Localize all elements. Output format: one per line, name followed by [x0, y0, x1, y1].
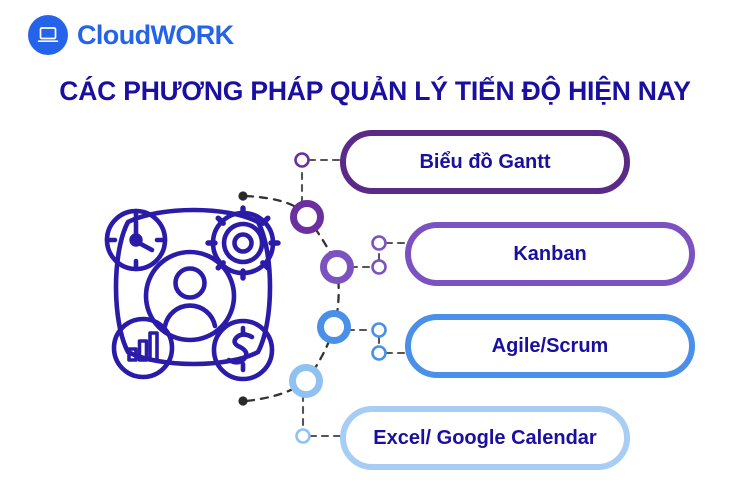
- connector-node-dots: [296, 154, 386, 443]
- node-dot-excel: [297, 430, 310, 443]
- arc-end-dot-bottom: [238, 396, 247, 405]
- method-pill-kanban[interactable]: Kanban: [405, 222, 695, 286]
- node-dot-agile-b: [373, 347, 386, 360]
- node-ring-agile[interactable]: [321, 314, 348, 341]
- infographic-canvas: CloudWORK CÁC PHƯƠNG PHÁP QUẢN LÝ TIẾN Đ…: [0, 0, 750, 500]
- clock-icon: [107, 211, 165, 269]
- node-dot-gantt: [296, 154, 309, 167]
- bar-chart-icon: [114, 319, 172, 377]
- method-pill-excel-google-calendar[interactable]: Excel/ Google Calendar: [340, 406, 630, 470]
- node-ring-gantt[interactable]: [294, 204, 321, 231]
- dollar-icon: [214, 321, 272, 379]
- node-ring-kanban[interactable]: [324, 254, 351, 281]
- connector-node-rings: [293, 204, 351, 395]
- method-pill-agile-scrum[interactable]: Agile/Scrum: [405, 314, 695, 378]
- person-icon: [146, 252, 234, 340]
- method-label: Kanban: [513, 243, 586, 266]
- arc-end-dot-top: [238, 191, 247, 200]
- project-management-icon-cluster: [107, 208, 278, 379]
- node-dot-kanban-a: [373, 237, 386, 250]
- connector-branches: [302, 160, 407, 436]
- method-label: Excel/ Google Calendar: [373, 427, 596, 450]
- method-pill-gantt[interactable]: Biểu đồ Gantt: [340, 130, 630, 194]
- method-label: Agile/Scrum: [492, 335, 609, 358]
- node-dot-kanban-b: [373, 261, 386, 274]
- method-label: Biểu đồ Gantt: [419, 151, 550, 174]
- node-ring-excel[interactable]: [293, 368, 320, 395]
- node-dot-agile-a: [373, 324, 386, 337]
